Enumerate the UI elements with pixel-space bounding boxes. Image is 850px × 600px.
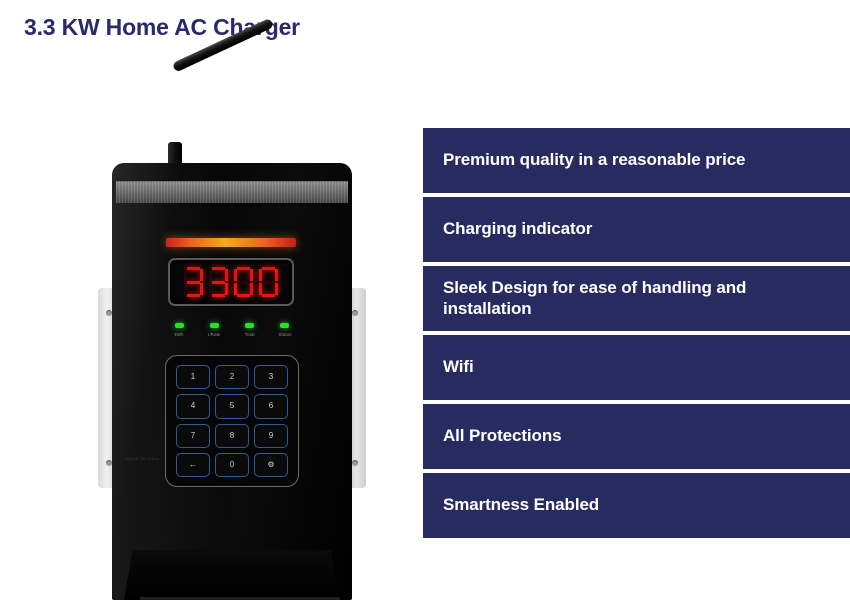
top-vent-band: [116, 181, 348, 203]
charger-base: [124, 550, 340, 600]
key-6: 6: [254, 394, 288, 418]
seven-segment-display: [168, 258, 294, 306]
key-9: 9: [254, 424, 288, 448]
feature-label: Wifi: [443, 357, 474, 377]
led-icon: [280, 323, 289, 328]
indicator-led-total: Total: [235, 323, 265, 337]
indicator-led-status: Status: [270, 323, 300, 337]
feature-item-smartness-enabled[interactable]: Smartness Enabled: [423, 473, 850, 538]
feature-label: Premium quality in a reasonable price: [443, 150, 745, 170]
display-digit-1: [184, 267, 203, 297]
charger-body: kWh I/Rate Total Status: [112, 163, 352, 600]
key-settings-gear-icon: ⚙: [254, 453, 288, 477]
display-digit-3: [234, 267, 253, 297]
led-icon: [245, 323, 254, 328]
key-8: 8: [215, 424, 249, 448]
indicator-led-row: kWh I/Rate Total Status: [164, 323, 300, 337]
indicator-led-kwh: kWh: [164, 323, 194, 337]
ev-charger-product-image: kWh I/Rate Total Status: [112, 58, 352, 600]
keypad: 1 2 3 4 5 6 7 8 9 ← 0 ⚙: [165, 355, 299, 487]
display-digit-2: [209, 267, 228, 297]
feature-label: Sleek Design for ease of handling and in…: [443, 278, 834, 318]
feature-label: All Protections: [443, 426, 561, 446]
key-2: 2: [215, 365, 249, 389]
key-3: 3: [254, 365, 288, 389]
feature-item-wifi[interactable]: Wifi: [423, 335, 850, 400]
key-0: 0: [215, 453, 249, 477]
screw-hole-icon: [352, 460, 358, 466]
key-backspace-icon: ←: [176, 453, 210, 477]
led-icon: [210, 323, 219, 328]
feature-item-all-protections[interactable]: All Protections: [423, 404, 850, 469]
screw-hole-icon: [352, 310, 358, 316]
feature-label: Smartness Enabled: [443, 495, 599, 515]
product-feature-page: 3.3 KW Home AC Charger: [0, 0, 850, 600]
key-5: 5: [215, 394, 249, 418]
feature-list: Premium quality in a reasonable price Ch…: [423, 128, 850, 542]
charging-indicator-strip: [166, 238, 296, 247]
led-icon: [175, 323, 184, 328]
made-in-marking: MADE IN INDIA: [126, 456, 160, 461]
feature-item-sleek-design[interactable]: Sleek Design for ease of handling and in…: [423, 266, 850, 331]
display-digit-4: [259, 267, 278, 297]
feature-label: Charging indicator: [443, 219, 592, 239]
indicator-led-rate: I/Rate: [199, 323, 229, 337]
key-1: 1: [176, 365, 210, 389]
feature-item-charging-indicator[interactable]: Charging indicator: [423, 197, 850, 262]
feature-item-premium-quality[interactable]: Premium quality in a reasonable price: [423, 128, 850, 193]
key-4: 4: [176, 394, 210, 418]
product-image-pane: kWh I/Rate Total Status: [0, 58, 415, 600]
key-7: 7: [176, 424, 210, 448]
